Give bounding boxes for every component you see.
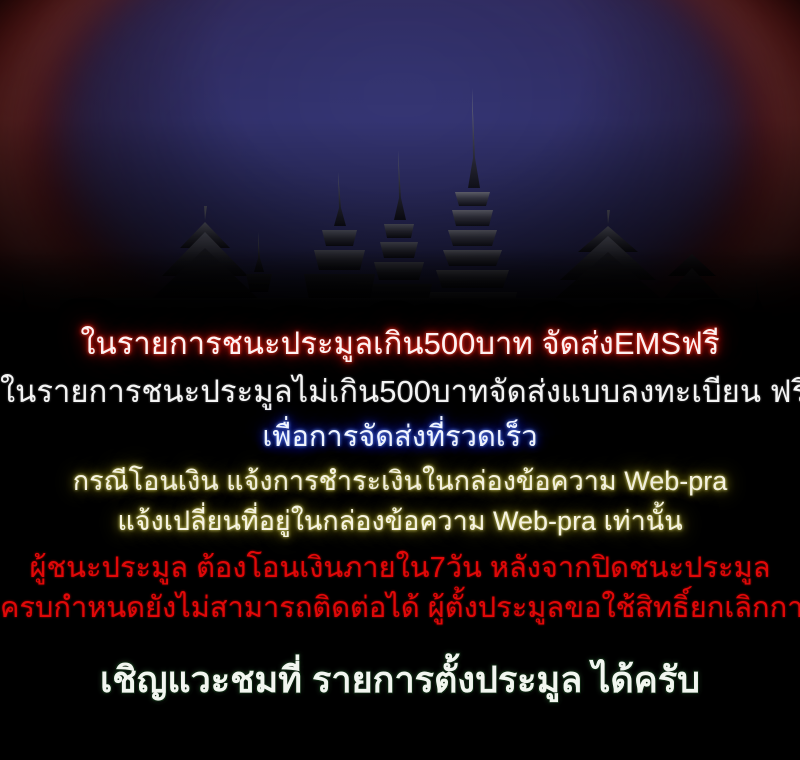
auction-terms-banner: ในรายการชนะประมูลเกิน500บาท จัดส่งEMSฟรี…	[0, 0, 800, 760]
line-registered-free: ในรายการชนะประมูลไม่เกิน500บาทจัดส่งแบบล…	[0, 376, 800, 407]
line-transfer-7days: ผู้ชนะประมูล ต้องโอนเงินภายใน7วัน หลังจา…	[0, 554, 800, 583]
line-address-change: แจ้งเปลี่ยนที่อยู่ในกล่องข้อความ Web-pra…	[0, 508, 800, 535]
terms-text-block: ในรายการชนะประมูลเกิน500บาท จัดส่งEMSฟรี…	[0, 0, 800, 760]
line-fast-delivery: เพื่อการจัดส่งที่รวดเร็ว	[0, 423, 800, 452]
line-cancel-right: ครบกำหนดยังไม่สามารถติดต่อได้ ผู้ตั้งประ…	[0, 594, 800, 623]
line-invite-visit: เชิญแวะชมที่ รายการตั้งประมูล ได้ครับ	[0, 662, 800, 698]
line-ems-free: ในรายการชนะประมูลเกิน500บาท จัดส่งEMSฟรี	[0, 328, 800, 359]
line-payment-notice: กรณีโอนเงิน แจ้งการชำระเงินในกล่องข้อควา…	[0, 468, 800, 495]
